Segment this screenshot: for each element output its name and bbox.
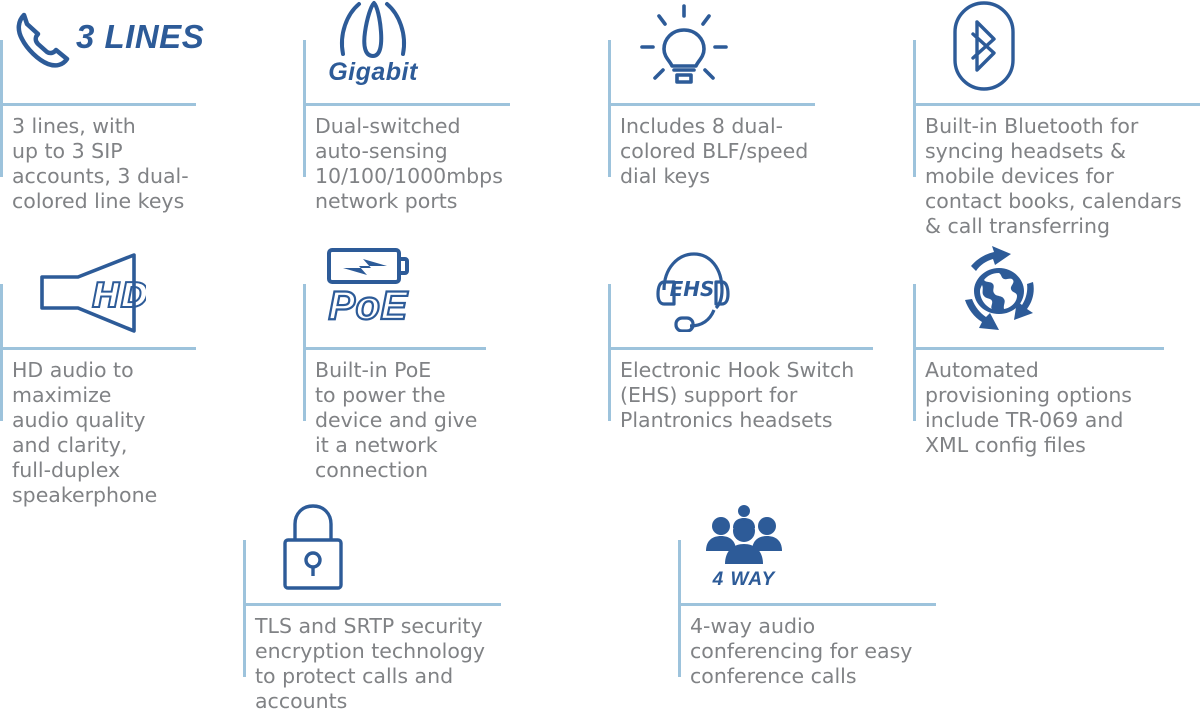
accent-horizontal-bar <box>303 103 510 106</box>
padlock-icon <box>277 502 349 594</box>
feature-caption: 3 LINES <box>76 20 204 53</box>
headset-ehs-icon: EHS <box>650 246 734 332</box>
feature-description: Electronic Hook Switch (EHS) support for… <box>620 358 854 433</box>
battery-bolt-icon <box>325 244 411 288</box>
accent-vertical-bar <box>913 40 916 177</box>
feature-description: HD audio to maximize audio quality and c… <box>12 358 157 508</box>
accent-horizontal-bar <box>913 103 1200 106</box>
feature-description: Includes 8 dual- colored BLF/speed dial … <box>620 114 808 189</box>
feature-caption: 4 WAY <box>713 570 776 589</box>
accent-vertical-bar <box>243 540 246 677</box>
feature-description: 3 lines, with up to 3 SIP accounts, 3 du… <box>12 114 189 214</box>
feature-description: Dual-switched auto-sensing 10/100/1000mb… <box>315 114 503 214</box>
feature-description: Built-in PoE to power the device and giv… <box>315 358 477 483</box>
gigabit-arcs-icon <box>323 0 423 58</box>
accent-horizontal-bar <box>608 103 815 106</box>
accent-horizontal-bar <box>913 347 1164 350</box>
phone-handset-icon <box>14 8 70 70</box>
lightbulb-icon <box>636 2 732 94</box>
accent-vertical-bar <box>0 284 3 421</box>
svg-text:HD: HD <box>92 276 146 316</box>
accent-vertical-bar <box>608 40 611 177</box>
accent-vertical-bar <box>678 540 681 677</box>
bluetooth-icon <box>951 0 1017 92</box>
feature-grid: 3 LINES 3 lines, with up to 3 SIP accoun… <box>0 0 1200 712</box>
feature-caption: Gigabit <box>328 60 418 85</box>
accent-vertical-bar <box>0 40 3 177</box>
feature-caption: PoE <box>328 286 407 326</box>
accent-horizontal-bar <box>608 347 873 350</box>
ehs-label: EHS <box>670 277 715 301</box>
accent-horizontal-bar <box>303 347 486 350</box>
feature-description: 4-way audio conferencing for easy confer… <box>690 614 912 689</box>
people-group-icon <box>702 504 786 566</box>
accent-horizontal-bar <box>243 603 501 606</box>
accent-vertical-bar <box>303 40 306 177</box>
feature-description: Automated provisioning options include T… <box>925 358 1132 458</box>
feature-description: Built-in Bluetooth for syncing headsets … <box>925 114 1182 239</box>
accent-vertical-bar <box>913 284 916 421</box>
accent-vertical-bar <box>608 284 611 421</box>
accent-vertical-bar <box>303 284 306 421</box>
globe-sync-icon <box>949 244 1049 338</box>
hd-speaker-icon: HD <box>34 250 146 336</box>
feature-description: TLS and SRTP security encryption technol… <box>255 614 485 714</box>
